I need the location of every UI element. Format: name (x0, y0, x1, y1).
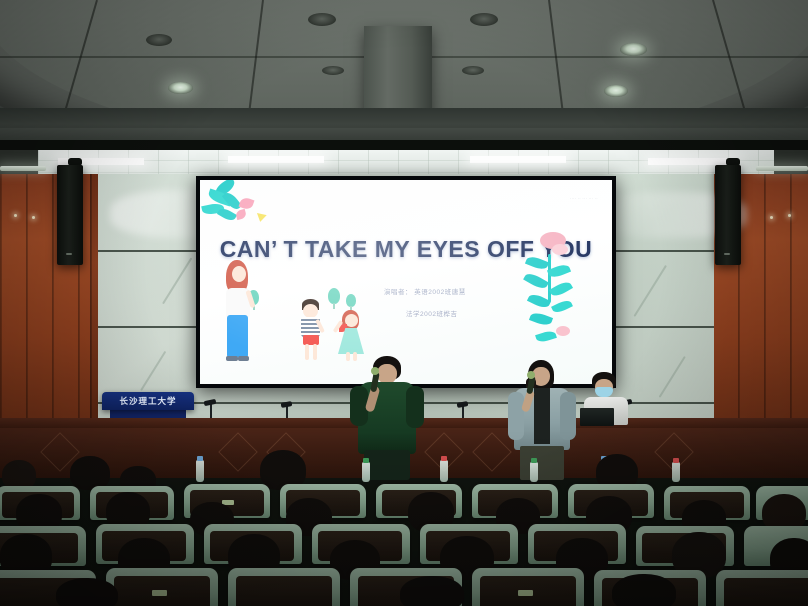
microphone-left-head (371, 367, 379, 375)
seat-back (724, 578, 808, 606)
water-bottle (362, 462, 370, 482)
audience-head (70, 456, 110, 490)
wall-light-strip (756, 166, 808, 171)
downlight-icon (470, 13, 498, 26)
desk-microphone (286, 406, 288, 418)
water-bottle (440, 460, 448, 482)
face-mask-icon (595, 387, 613, 397)
downlight-icon (308, 13, 336, 26)
performer-right-inner-top (534, 388, 550, 444)
wall-light-pin (32, 216, 35, 219)
audience-head (612, 574, 676, 606)
screen-glare (200, 180, 612, 384)
water-bottle (196, 460, 204, 482)
downlight-icon (604, 85, 628, 97)
performer-right-sleeve (508, 392, 524, 440)
downlight-icon (462, 66, 484, 75)
fluorescent-strip (648, 158, 738, 165)
audience-head (400, 576, 464, 606)
performer-right-sleeve (560, 392, 576, 440)
desk-microphone (462, 406, 464, 418)
presentation-slide: ···· ·· ··· ··· ·· CAN’ T TAKE MY EYES O… (200, 180, 612, 384)
speaker-led (66, 253, 72, 255)
audience-head (56, 578, 118, 606)
downlight-icon (168, 82, 193, 94)
wall-light-pin (770, 216, 773, 219)
downlight-icon (620, 43, 647, 56)
seat-back (236, 576, 332, 606)
water-bottle (530, 462, 538, 482)
fluorescent-strip (470, 156, 566, 163)
wall-light-pin (14, 214, 17, 217)
water-bottle (672, 462, 680, 482)
ceiling-shadow-edge (0, 140, 808, 150)
microphone-right-head (527, 371, 535, 379)
speaker-led (724, 253, 730, 255)
performer-left-sleeve (406, 386, 424, 428)
seat-number-plate (518, 590, 533, 596)
wall-speaker-right (715, 165, 741, 265)
fluorescent-strip (228, 156, 324, 163)
seat-number-plate (152, 590, 167, 596)
downlight-icon (146, 34, 172, 46)
laptop-icon (580, 408, 614, 426)
bottle-cap (673, 458, 679, 463)
downlight-icon (322, 66, 344, 75)
wall-light-pin (788, 214, 791, 217)
laptop-operator (580, 372, 636, 430)
bottle-cap (197, 456, 203, 461)
lectern-banner: 长沙理工大学 (102, 392, 194, 410)
performer-left-face (377, 364, 397, 384)
auditorium-photo: ···· ·· ··· ··· ·· CAN’ T TAKE MY EYES O… (0, 0, 808, 606)
wall-light-strip (0, 166, 46, 171)
bottle-cap (363, 458, 369, 463)
ceiling (0, 0, 808, 152)
desk-microphone (210, 404, 212, 418)
bottle-cap (531, 458, 537, 463)
wall-speaker-left (57, 165, 83, 265)
university-name-label: 长沙理工大学 (102, 395, 194, 407)
audience-area (0, 450, 808, 606)
bottle-cap (441, 456, 447, 461)
